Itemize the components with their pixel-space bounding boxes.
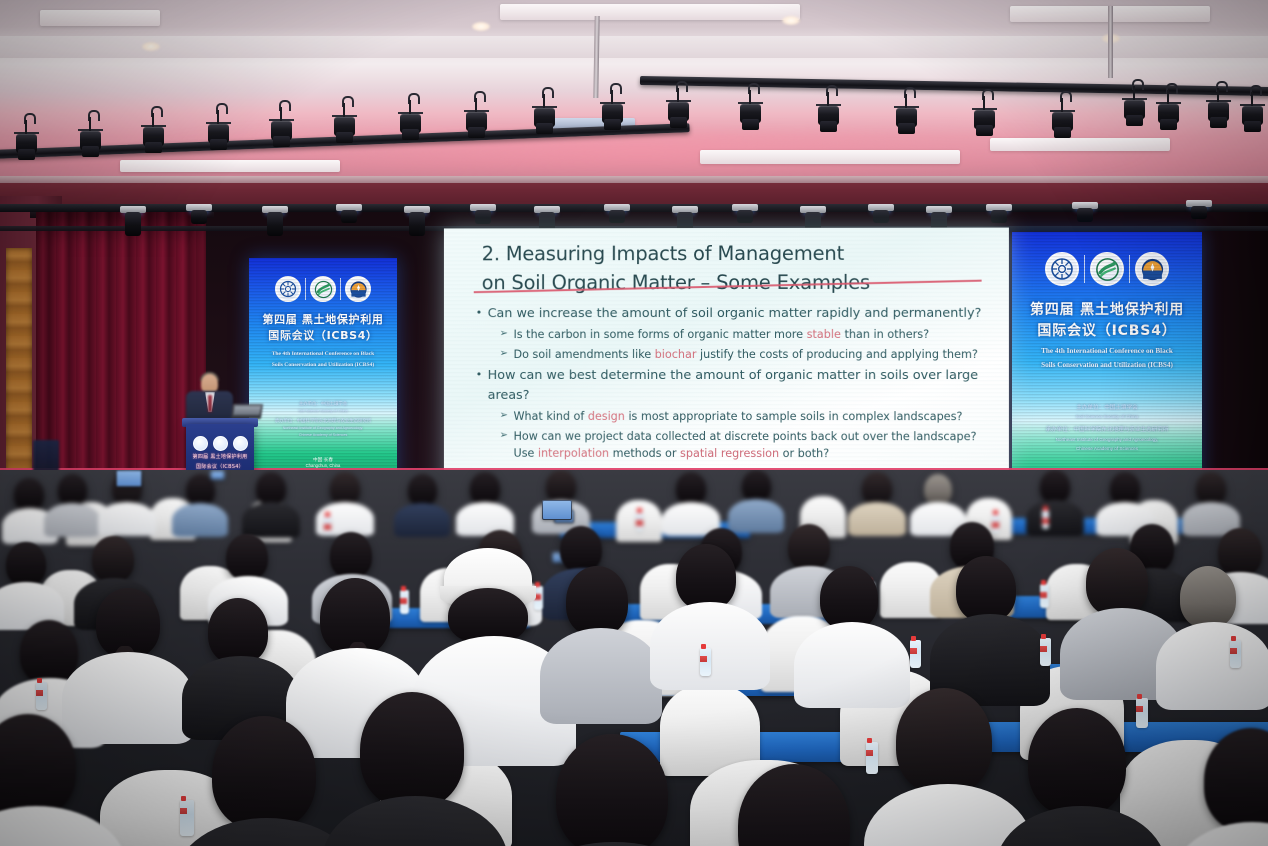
slide-body: • Can we increase the amount of soil org… <box>474 304 984 466</box>
audience-head <box>556 734 668 846</box>
audience-head <box>676 544 736 610</box>
podium-title-cn: 第四届 黑土地保护利用 <box>186 454 254 462</box>
slide-subbullet: ➢ How can we project data collected at d… <box>474 428 984 463</box>
audience-head <box>1040 470 1070 503</box>
geography-institute-logo <box>213 436 228 451</box>
banner-organizer-4: Northeast Institute of Geography and Agr… <box>249 425 397 431</box>
subbullet-post: than in others? <box>841 328 929 341</box>
banner-title-cn-1: 第四届 黑土地保护利用 <box>249 312 397 328</box>
subbullet-highlight: design <box>588 410 625 423</box>
audience-shoulders <box>44 503 100 537</box>
podium-laptop <box>231 404 263 419</box>
black-soil-logo <box>345 276 371 302</box>
ceiling-downlight <box>472 22 490 31</box>
audience-head <box>226 534 268 580</box>
audience-head <box>6 542 46 586</box>
slide-subbullet: ➢ Do soil amendments like biochar justif… <box>474 346 984 363</box>
audience-head <box>1110 472 1140 505</box>
audience-shoulders <box>1026 500 1084 536</box>
led-banner-left: 第四届 黑土地保护利用 国际会议（ICBS4） The 4th Internat… <box>249 258 397 480</box>
right-wall <box>1196 208 1268 508</box>
bullet-marker: • <box>476 367 482 384</box>
water-bottle <box>1040 638 1051 666</box>
audience-head <box>330 532 372 578</box>
audience-head <box>20 620 78 684</box>
water-bottle <box>910 640 921 668</box>
audience-head <box>470 472 500 505</box>
subbullet-marker: ➢ <box>500 428 508 443</box>
audience-head <box>360 692 464 808</box>
proscenium-lip <box>0 176 1268 183</box>
audience-shoulders <box>540 628 662 724</box>
audience-head <box>256 472 286 505</box>
slide-bullet: • How can we best determine the amount o… <box>474 366 984 405</box>
water-bottle <box>992 514 999 533</box>
ceiling-panel <box>500 4 800 20</box>
water-bottle <box>1136 698 1148 728</box>
soil-society-logo <box>1045 252 1079 286</box>
audience-phone <box>116 470 142 487</box>
subbullet-post: or both? <box>779 447 829 460</box>
ceiling-vent <box>990 138 1170 151</box>
audience-shoulders <box>728 499 784 533</box>
ceiling-downlight <box>782 16 800 25</box>
audience-head <box>676 472 706 505</box>
slide-title-line-1: 2. Measuring Impacts of Management <box>482 240 972 269</box>
water-bottle <box>324 516 331 535</box>
slide-bullet: • Can we increase the amount of soil org… <box>474 304 984 324</box>
banner-title-cn-2: 国际会议（ICBS4） <box>1012 321 1202 341</box>
geography-institute-logo <box>1090 252 1124 286</box>
banner-subtitle-en-2: Soils Conservation and Utilization (ICBS… <box>249 361 397 369</box>
audience-head <box>924 474 952 505</box>
subbullet-pre: Do soil amendments like <box>514 348 655 361</box>
audience-head <box>788 524 830 570</box>
audience-head <box>862 472 892 505</box>
logo-divider <box>340 278 341 300</box>
audience-head <box>742 470 771 502</box>
audience-head <box>408 474 437 506</box>
bullet-text: How can we best determine the amount of … <box>488 368 978 402</box>
subbullet-marker: ➢ <box>500 327 508 342</box>
bullet-marker: • <box>476 305 482 322</box>
ceiling-strip <box>0 36 1268 58</box>
water-bottle <box>1040 584 1049 608</box>
banner-organizer-2: Soil Science Society of China <box>249 408 397 414</box>
title-underline <box>474 280 982 294</box>
banner-organizer-1: 主办单位：中国土壤学会 <box>1012 404 1202 414</box>
banner-organizer-4: Northeast Institute of Geography and Agr… <box>1012 436 1202 444</box>
banner-organizer-5: Chinese Academy of Sciences <box>249 432 397 438</box>
audience-head <box>212 716 316 830</box>
audience-head <box>1218 528 1262 576</box>
slide-subbullet: ➢ Is the carbon in some forms of organic… <box>474 326 984 343</box>
slide-title-line-2: on Soil Organic Matter – Some Examples <box>482 268 972 297</box>
banner-subtitle-en-1: The 4th International Conference on Blac… <box>1012 346 1202 357</box>
projection-slide: 2. Measuring Impacts of Management on So… <box>444 228 1009 501</box>
audience-head <box>896 688 992 794</box>
banner-subtitle-en-1: The 4th International Conference on Blac… <box>249 350 397 358</box>
subbullet-highlight: biochar <box>655 348 697 361</box>
led-banner-right: 第四届 黑土地保护利用 国际会议（ICBS4） The 4th Internat… <box>1012 232 1202 502</box>
subbullet-pre: How can we project data collected at dis… <box>514 430 977 460</box>
audience-shoulders <box>516 842 712 846</box>
audience-shoulders <box>1156 622 1268 710</box>
audience-shoulders <box>62 652 194 744</box>
banner-organizer-1: 主办单位：中国土壤学会 <box>249 400 397 407</box>
wood-wall-panel <box>6 248 32 476</box>
soil-society-logo <box>193 436 208 451</box>
water-bottle <box>700 648 711 676</box>
audience-phone <box>542 500 572 520</box>
banner-title-cn-2: 国际会议（ICBS4） <box>249 328 397 344</box>
water-bottle <box>866 742 878 774</box>
audience-head <box>956 556 1016 622</box>
audience-shoulders <box>650 602 770 690</box>
speaker-tie <box>208 395 212 412</box>
audience-shoulders <box>394 503 450 537</box>
slide-title: 2. Measuring Impacts of Management on So… <box>482 240 972 298</box>
audience-head <box>1086 548 1148 616</box>
ceiling-panel <box>40 10 160 26</box>
banner-organizer-5: Chinese Academy of Sciences <box>1012 445 1202 453</box>
geography-institute-logo <box>310 276 336 302</box>
audience-head <box>92 536 134 582</box>
subbullet-highlight-2: spatial regression <box>680 447 779 460</box>
bullet-text: Can we increase the amount of soil organ… <box>488 306 982 321</box>
subbullet-mid: methods or <box>609 447 680 460</box>
audience-head <box>820 566 878 630</box>
logo-divider <box>305 278 306 300</box>
audience-head <box>330 472 360 505</box>
audience-head <box>1028 708 1126 816</box>
subbullet-pre: Is the carbon in some forms of organic m… <box>514 328 807 341</box>
audience-head <box>1180 566 1236 628</box>
audience-head <box>1196 472 1226 505</box>
subbullet-post: is most appropriate to sample soils in c… <box>625 410 963 423</box>
soil-society-logo <box>275 276 301 302</box>
logo-divider <box>1129 255 1130 283</box>
audience-shoulders <box>98 502 156 536</box>
audience-shoulders <box>794 622 910 708</box>
subbullet-marker: ➢ <box>500 408 508 423</box>
water-bottle <box>636 512 643 531</box>
audience-shoulders <box>848 502 906 536</box>
audience-head <box>58 474 87 506</box>
stage-curtain <box>36 212 206 508</box>
logo-divider <box>1084 255 1085 283</box>
subbullet-highlight: interpolation <box>538 447 609 460</box>
slide-subbullet: ➢ What kind of design is most appropriat… <box>474 408 984 425</box>
water-bottle <box>36 682 47 710</box>
banner-subtitle-en-2: Soils Conservation and Utilization (ICBS… <box>1012 360 1202 371</box>
ceiling-downlight <box>142 42 160 51</box>
water-bottle <box>180 800 194 836</box>
ceiling-panel <box>120 160 340 172</box>
water-bottle <box>400 590 409 614</box>
subbullet-highlight: stable <box>807 328 841 341</box>
audience-shoulders <box>172 503 228 537</box>
audience-head <box>208 598 268 664</box>
water-bottle <box>1042 510 1049 529</box>
subbullet-post: justify the costs of producing and apply… <box>696 348 978 361</box>
audience-head <box>546 470 576 503</box>
subbullet-marker: ➢ <box>500 346 508 361</box>
banner-organizer-2: Soil Science Society of China <box>1012 414 1202 422</box>
banner-organizer-3: 承办单位：中国科学院东北地理与农业生态研究所 <box>1012 426 1202 436</box>
audience-head <box>14 478 44 511</box>
black-soil-logo <box>1135 252 1169 286</box>
truss-support-rod <box>1108 6 1113 78</box>
podium-logo-row <box>186 436 254 451</box>
black-soil-logo <box>233 436 248 451</box>
audience-head <box>566 566 628 636</box>
audience-shoulders <box>242 502 300 538</box>
banner-organizer-3: 承办单位：中国科学院东北地理与农业生态研究所 <box>249 417 397 424</box>
audience-phone <box>210 470 225 480</box>
ceiling-panel <box>700 150 960 164</box>
banner-title-cn-1: 第四届 黑土地保护利用 <box>1012 300 1202 320</box>
conference-hall-scene: 第四届 黑土地保护利用 国际会议（ICBS4） The 4th Internat… <box>0 0 1268 846</box>
audience-area <box>0 470 1268 846</box>
subbullet-pre: What kind of <box>514 410 588 423</box>
water-bottle <box>1230 640 1241 668</box>
